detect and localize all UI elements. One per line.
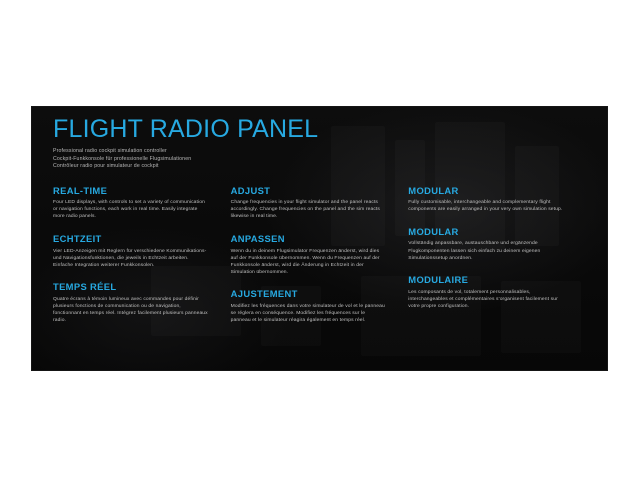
feature-column-3: MODULAR Fully customisable, interchangea…	[408, 185, 586, 337]
feature-heading: ECHTZEIT	[53, 233, 209, 244]
feature-body: Fully customisable, interchangeable and …	[408, 199, 564, 213]
feature-body: Wenn du in deinem Flugsimulator Frequenz…	[231, 248, 387, 276]
feature-block-adjust-de: ANPASSEN Wenn du in deinem Flugsimulator…	[231, 233, 387, 276]
feature-body: Modifiez les fréquences dans votre simul…	[231, 303, 387, 324]
feature-body: Quatre écrans à témoin lumineux avec com…	[53, 296, 209, 324]
feature-block-adjust-en: ADJUST Change frequencies in your flight…	[231, 185, 387, 221]
feature-heading: TEMPS RÉEL	[53, 281, 209, 292]
feature-body: Vier LED-Anzeigen mit Reglern für versch…	[53, 248, 209, 269]
feature-body: Les composants de vol, totalement person…	[408, 289, 564, 310]
feature-heading: AJUSTEMENT	[231, 288, 387, 299]
feature-block-adjust-fr: AJUSTEMENT Modifiez les fréquences dans …	[231, 288, 387, 324]
feature-block-modular-fr: MODULAIRE Les composants de vol, totalem…	[408, 274, 564, 310]
feature-column-1: REAL-TIME Four LED displays, with contro…	[53, 185, 231, 337]
feature-block-modular-en: MODULAR Fully customisable, interchangea…	[408, 185, 564, 214]
feature-body: Four LED displays, with controls to set …	[53, 199, 209, 220]
feature-heading: ADJUST	[231, 185, 387, 196]
feature-body: Change frequencies in your flight simula…	[231, 199, 387, 220]
feature-block-realtime-de: ECHTZEIT Vier LED-Anzeigen mit Reglern f…	[53, 233, 209, 269]
feature-block-realtime-en: REAL-TIME Four LED displays, with contro…	[53, 185, 209, 221]
subtitle-en: Professional radio cockpit simulation co…	[53, 148, 586, 156]
subtitle-fr: Contrôleur radio pour simulateur de cock…	[53, 163, 586, 171]
feature-block-realtime-fr: TEMPS RÉEL Quatre écrans à témoin lumine…	[53, 281, 209, 324]
feature-heading: MODULAR	[408, 185, 564, 196]
product-banner: FLIGHT RADIO PANEL Professional radio co…	[31, 106, 608, 371]
feature-heading: MODULAR	[408, 226, 564, 237]
feature-block-modular-de: MODULAR Vollständig anpassbare, austausc…	[408, 226, 564, 262]
feature-heading: MODULAIRE	[408, 274, 564, 285]
page-title: FLIGHT RADIO PANEL	[53, 116, 586, 143]
banner-content: FLIGHT RADIO PANEL Professional radio co…	[31, 106, 608, 337]
feature-heading: ANPASSEN	[231, 233, 387, 244]
feature-column-2: ADJUST Change frequencies in your flight…	[231, 185, 409, 337]
subtitle-de: Cockpit-Funkkonsole für professionelle F…	[53, 156, 586, 164]
feature-columns: REAL-TIME Four LED displays, with contro…	[53, 185, 586, 337]
feature-heading: REAL-TIME	[53, 185, 209, 196]
subtitle-list: Professional radio cockpit simulation co…	[53, 148, 586, 171]
feature-body: Vollständig anpassbare, austauschbare un…	[408, 240, 564, 261]
page-canvas: FLIGHT RADIO PANEL Professional radio co…	[0, 0, 640, 480]
